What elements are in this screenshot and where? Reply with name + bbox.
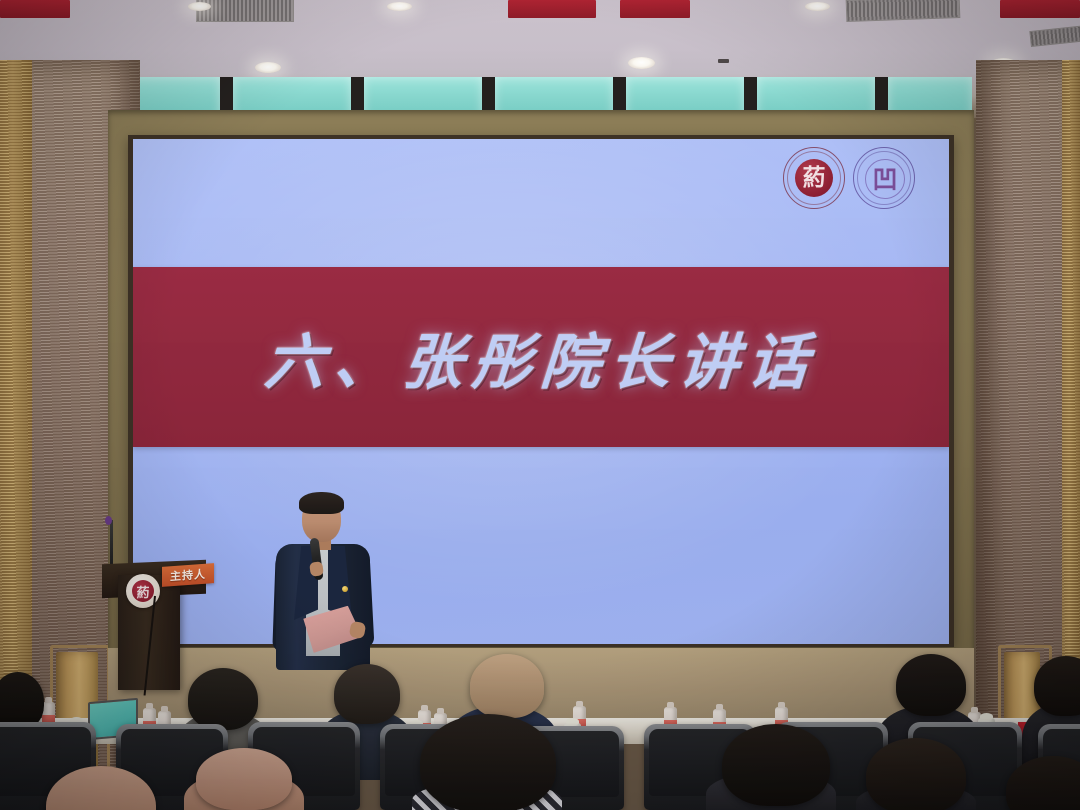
speaker-hand-holding-mic xyxy=(309,561,324,577)
audience-head-back-3 xyxy=(470,654,544,718)
table-skirt-right xyxy=(1000,0,1080,18)
projection-slide: 葯 凹 六、张彤院长讲话 xyxy=(133,139,949,644)
audience-head-back-1 xyxy=(188,668,258,730)
audience-head-front-2 xyxy=(420,714,556,810)
slide-title-banner: 六、张彤院长讲话 xyxy=(133,267,949,447)
seal-glyph: 凹 xyxy=(872,167,897,192)
downlight-1 xyxy=(188,2,211,11)
host-nameplate-label: 主持人 xyxy=(170,566,206,585)
speaker-lapel-pin xyxy=(342,586,348,592)
seal-glyph: 葯 xyxy=(803,167,826,190)
university-seal-logo: 葯 xyxy=(783,147,845,209)
seal-core: 凹 xyxy=(865,159,905,199)
host-nameplate: 主持人 xyxy=(162,563,214,587)
ceiling-vent-left xyxy=(196,0,294,22)
audience-head-back-4 xyxy=(896,654,966,716)
slide-logos: 葯 凹 xyxy=(783,147,915,209)
pharmacy-school-seal-logo: 凹 xyxy=(853,147,915,209)
audience-head-back-2 xyxy=(334,664,400,724)
table-skirt-mid xyxy=(508,0,596,18)
downlight-5 xyxy=(255,62,281,73)
conference-hall-photo: 葯 凹 六、张彤院长讲话 葯 主持人 xyxy=(0,0,1080,810)
audience-head-front-1 xyxy=(196,748,292,810)
podium-mic-head xyxy=(105,516,112,525)
slide-title: 六、张彤院长讲话 xyxy=(262,314,820,401)
audience-head-front-4 xyxy=(866,738,966,810)
downlight-3 xyxy=(805,2,830,11)
podium-emblem-glyph: 葯 xyxy=(132,580,154,602)
speaker-hair xyxy=(299,492,344,514)
speaker-figure xyxy=(258,490,388,670)
table-skirt-left xyxy=(0,0,70,18)
downlight-6 xyxy=(628,57,655,69)
audience-head-front-3 xyxy=(722,724,830,806)
seal-core: 葯 xyxy=(795,159,833,197)
podium-mic-stand xyxy=(110,520,113,570)
downlight-2 xyxy=(387,2,412,11)
ceiling-sensor xyxy=(718,59,729,63)
table-skirt-mid2 xyxy=(620,0,690,18)
